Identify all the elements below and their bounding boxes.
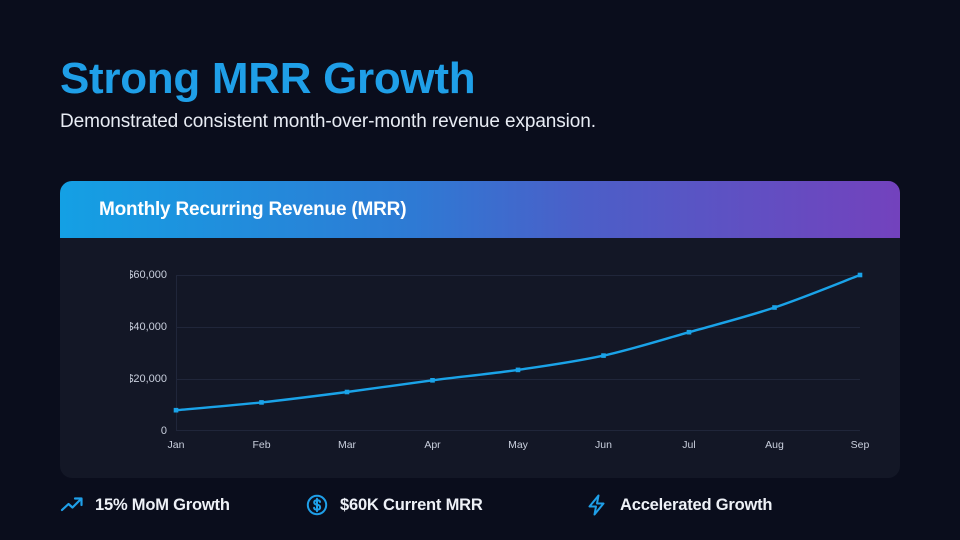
- data-point-marker: [174, 408, 179, 413]
- series-markers: [174, 273, 863, 413]
- data-point-marker: [601, 353, 606, 358]
- x-axis-tick-label: Aug: [765, 439, 784, 451]
- trending-up-icon: [60, 493, 84, 517]
- x-axis-tick-label: Sep: [851, 439, 870, 451]
- series-line: [176, 275, 860, 410]
- stats-row: 15% MoM Growth $60K Current MRR Accelera…: [60, 488, 900, 522]
- x-axis-tick-label: Feb: [252, 439, 270, 451]
- x-axis-tick-label: Apr: [424, 439, 440, 451]
- mrr-line-series: [176, 275, 860, 431]
- mrr-chart-card: Monthly Recurring Revenue (MRR) 0$20,000…: [60, 181, 900, 478]
- y-axis-tick-label: $20,000: [130, 373, 167, 385]
- data-point-marker: [345, 390, 350, 395]
- y-axis-tick-label: 0: [161, 425, 167, 437]
- stat-label: Accelerated Growth: [620, 496, 772, 515]
- y-axis-tick-label: $60,000: [130, 269, 167, 281]
- y-axis-tick-label: $40,000: [130, 321, 167, 333]
- data-point-marker: [858, 273, 863, 278]
- data-point-marker: [687, 330, 692, 335]
- dollar-circle-icon: [305, 493, 329, 517]
- page-header: Strong MRR Growth Demonstrated consisten…: [60, 56, 900, 133]
- x-axis-tick-label: May: [508, 439, 528, 451]
- x-axis-tick-label: Jan: [168, 439, 185, 451]
- x-axis-tick-label: Mar: [338, 439, 356, 451]
- page-title: Strong MRR Growth: [60, 56, 900, 102]
- x-axis-tick-label: Jul: [682, 439, 695, 451]
- line-chart-plot-area: 0$20,000$40,000$60,000 JanFebMarAprMayJu…: [176, 275, 860, 431]
- data-point-marker: [259, 400, 264, 405]
- page-subtitle: Demonstrated consistent month-over-month…: [60, 111, 900, 133]
- x-axis-tick-label: Jun: [595, 439, 612, 451]
- data-point-marker: [516, 368, 521, 373]
- stat-label: $60K Current MRR: [340, 496, 483, 515]
- stat-item-current-mrr: $60K Current MRR: [305, 493, 585, 517]
- chart-card-header: Monthly Recurring Revenue (MRR): [60, 181, 900, 238]
- lightning-bolt-icon: [585, 493, 609, 517]
- stat-label: 15% MoM Growth: [95, 496, 230, 515]
- data-point-marker: [430, 378, 435, 383]
- data-point-marker: [772, 305, 777, 310]
- stat-item-mom-growth: 15% MoM Growth: [60, 493, 305, 517]
- chart-body: 0$20,000$40,000$60,000 JanFebMarAprMayJu…: [60, 238, 900, 478]
- stat-item-accelerated-growth: Accelerated Growth: [585, 493, 865, 517]
- chart-card-title: Monthly Recurring Revenue (MRR): [99, 199, 406, 221]
